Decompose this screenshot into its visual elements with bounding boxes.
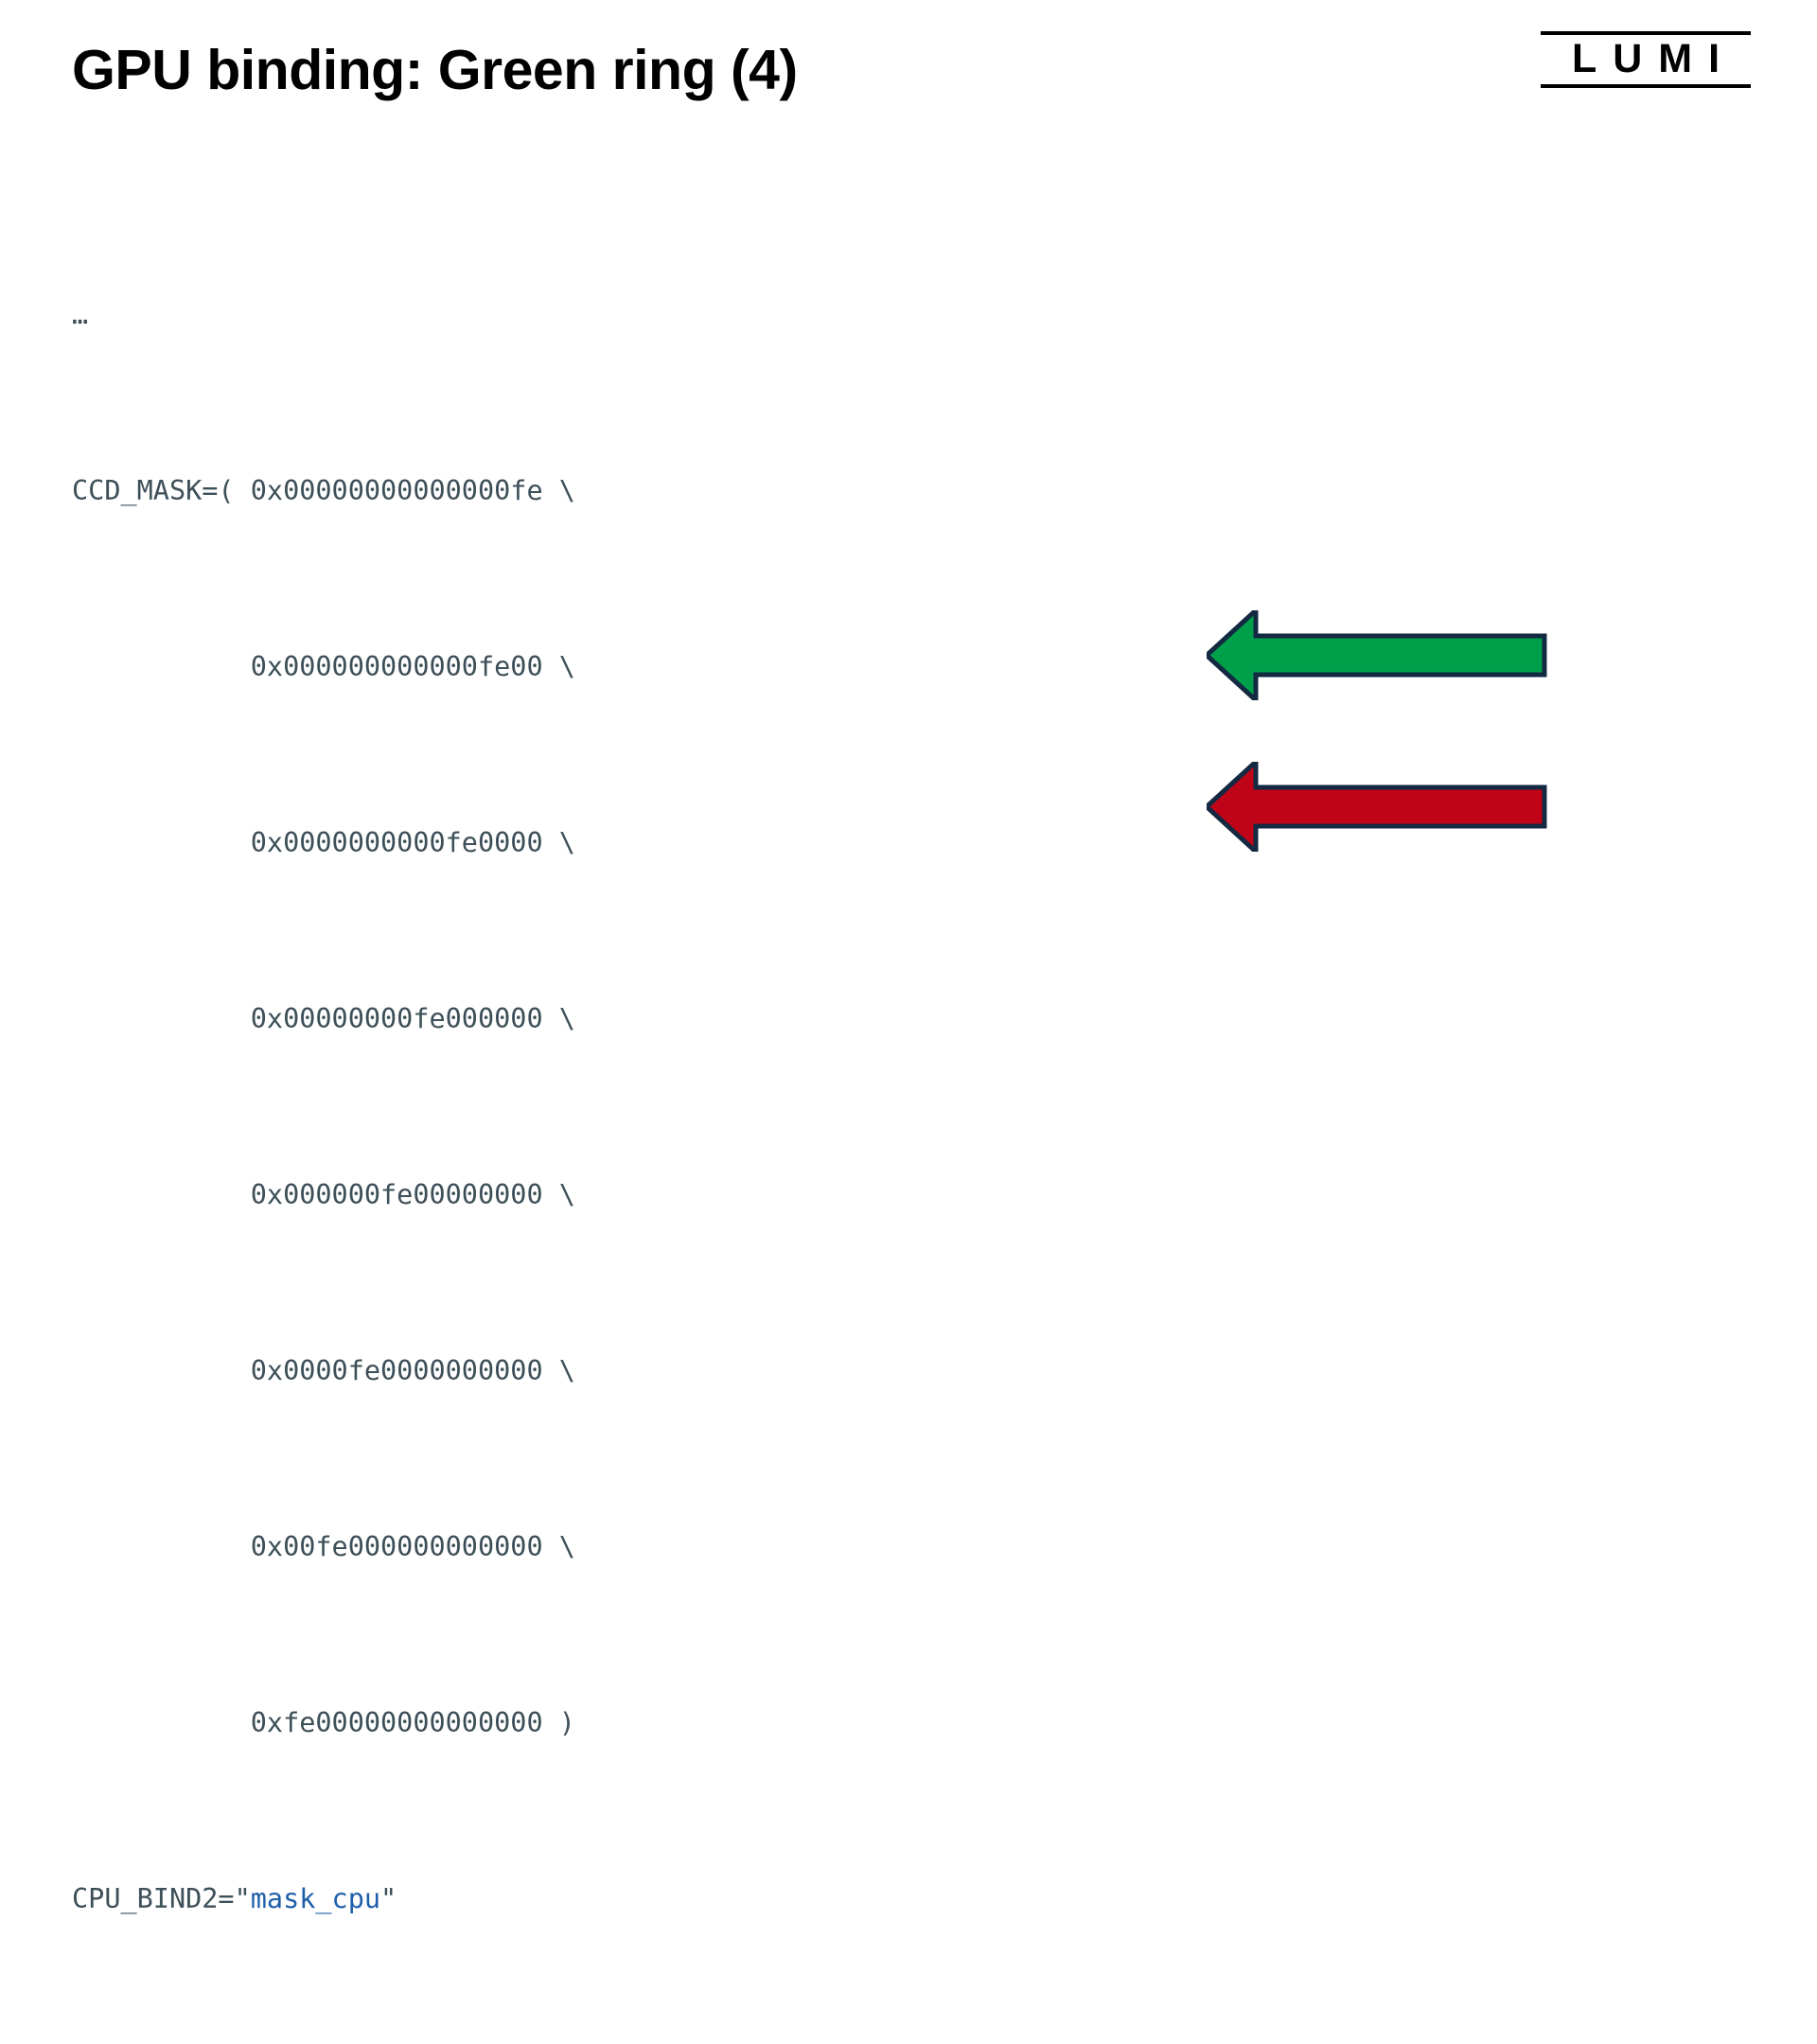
code-block: … CCD_MASK=( 0x00000000000000fe \ 0x0000…	[72, 161, 1030, 2044]
mask-indent-2	[72, 827, 251, 858]
mask-indent-5	[72, 1355, 251, 1386]
ccd-mask-value-5: 0x0000fe0000000000 \	[251, 1355, 575, 1386]
ccd-mask-value-3: 0x00000000fe000000 \	[251, 1003, 575, 1034]
code-line-ellipsis: …	[72, 293, 1030, 338]
green-arrow-shape	[1207, 610, 1544, 700]
cpubind0-prefix: CPU_BIND2="	[72, 1883, 251, 1914]
cpubind0-suffix: "	[380, 1883, 397, 1914]
code-line-mask-6: 0x00fe000000000000 \	[72, 1525, 1030, 1570]
mask-indent-6	[72, 1531, 251, 1562]
page-title: GPU binding: Green ring (4)	[72, 42, 798, 100]
ccd-mask-value-6: 0x00fe000000000000 \	[251, 1531, 575, 1562]
green-arrow	[1207, 610, 1547, 700]
lumi-logo-text: LUMI	[1541, 39, 1751, 79]
red-arrow-shape	[1207, 762, 1544, 852]
mask-indent-7	[72, 1707, 251, 1738]
red-arrow	[1207, 762, 1547, 852]
mask-indent-3	[72, 1003, 251, 1034]
code-line-mask-5: 0x0000fe0000000000 \	[72, 1349, 1030, 1394]
ccd-mask-value-2: 0x0000000000fe0000 \	[251, 827, 575, 858]
cpubind0-string: mask_cpu	[251, 1883, 380, 1914]
code-line-cpubind-0: CPU_BIND2="mask_cpu"	[72, 1877, 1030, 1922]
ccd-mask-value-4: 0x000000fe00000000 \	[251, 1179, 575, 1210]
mask-indent-4	[72, 1179, 251, 1210]
ccd-mask-value-7: 0xfe00000000000000 )	[251, 1707, 575, 1738]
code-line-mask-4: 0x000000fe00000000 \	[72, 1173, 1030, 1218]
mask-indent-1	[72, 651, 251, 682]
code-line-mask-1: 0x000000000000fe00 \	[72, 645, 1030, 690]
code-line-mask-7: 0xfe00000000000000 )	[72, 1701, 1030, 1746]
code-line-mask-open: CCD_MASK=( 0x00000000000000fe \	[72, 469, 1030, 514]
ccd-mask-open-keyword: CCD_MASK=(	[72, 475, 251, 506]
lumi-logo: LUMI	[1541, 31, 1751, 88]
code-line-mask-2: 0x0000000000fe0000 \	[72, 821, 1030, 866]
ccd-mask-value-0: 0x00000000000000fe \	[251, 475, 575, 506]
ccd-mask-value-1: 0x000000000000fe00 \	[251, 651, 575, 682]
code-line-mask-3: 0x00000000fe000000 \	[72, 997, 1030, 1042]
